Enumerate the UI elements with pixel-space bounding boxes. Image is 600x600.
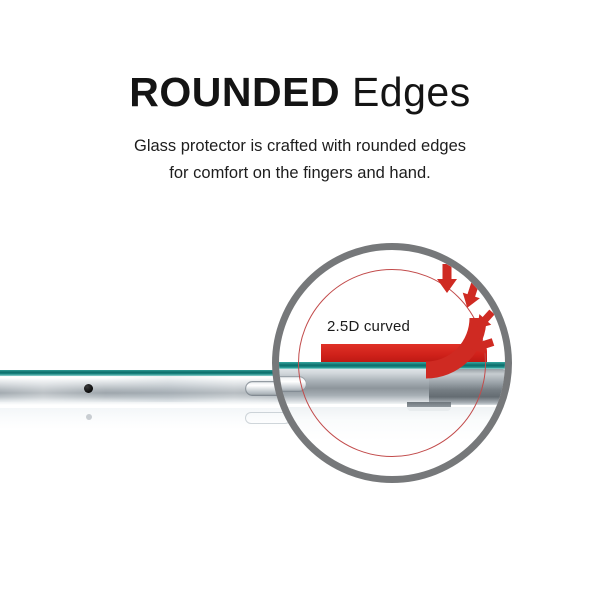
page-title-bold: ROUNDED <box>129 69 340 115</box>
page-title: ROUNDED Edges <box>0 72 600 113</box>
page-title-light: Edges <box>340 69 471 115</box>
subtitle-line-2: for comfort on the fingers and hand. <box>0 160 600 187</box>
subtitle-line-1: Glass protector is crafted with rounded … <box>0 133 600 160</box>
microphone-hole <box>84 384 93 393</box>
magnifier-callout: 2.5D curved <box>272 243 512 483</box>
magnifier-ring <box>272 243 512 483</box>
product-feature-banner: ROUNDED Edges Glass protector is crafted… <box>0 0 600 600</box>
reflection-microphone-hole <box>86 414 92 420</box>
subtitle: Glass protector is crafted with rounded … <box>0 133 600 186</box>
